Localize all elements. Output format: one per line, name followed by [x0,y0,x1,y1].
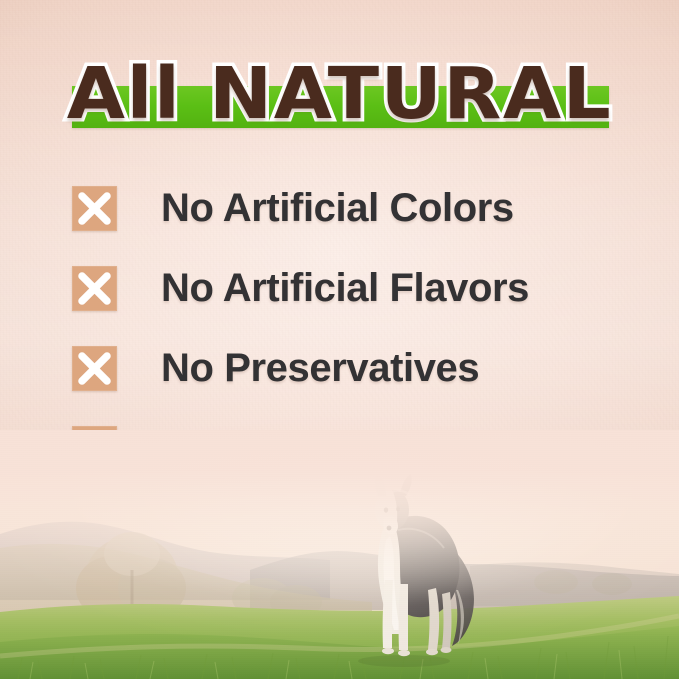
benefit-row-no-artificial-flavors: No Artificial Flavors [0,248,679,328]
x-mark-icon [72,346,117,391]
benefit-row-no-artificial-colors: No Artificial Colors [0,168,679,248]
headline-banner: All NATURAL [0,48,679,140]
page-title: All NATURAL [0,48,679,140]
hero-photo-dog-in-meadow [0,430,679,679]
benefit-row-no-preservatives: No Preservatives [0,328,679,408]
benefit-label: No Preservatives [161,348,479,388]
all-natural-feature-graphic: All NATURAL No Artificial Colors [0,0,679,679]
benefit-label: No Artificial Flavors [161,268,529,308]
x-mark-icon [72,186,117,231]
benefit-label: No Artificial Colors [161,188,514,228]
x-mark-icon [72,266,117,311]
